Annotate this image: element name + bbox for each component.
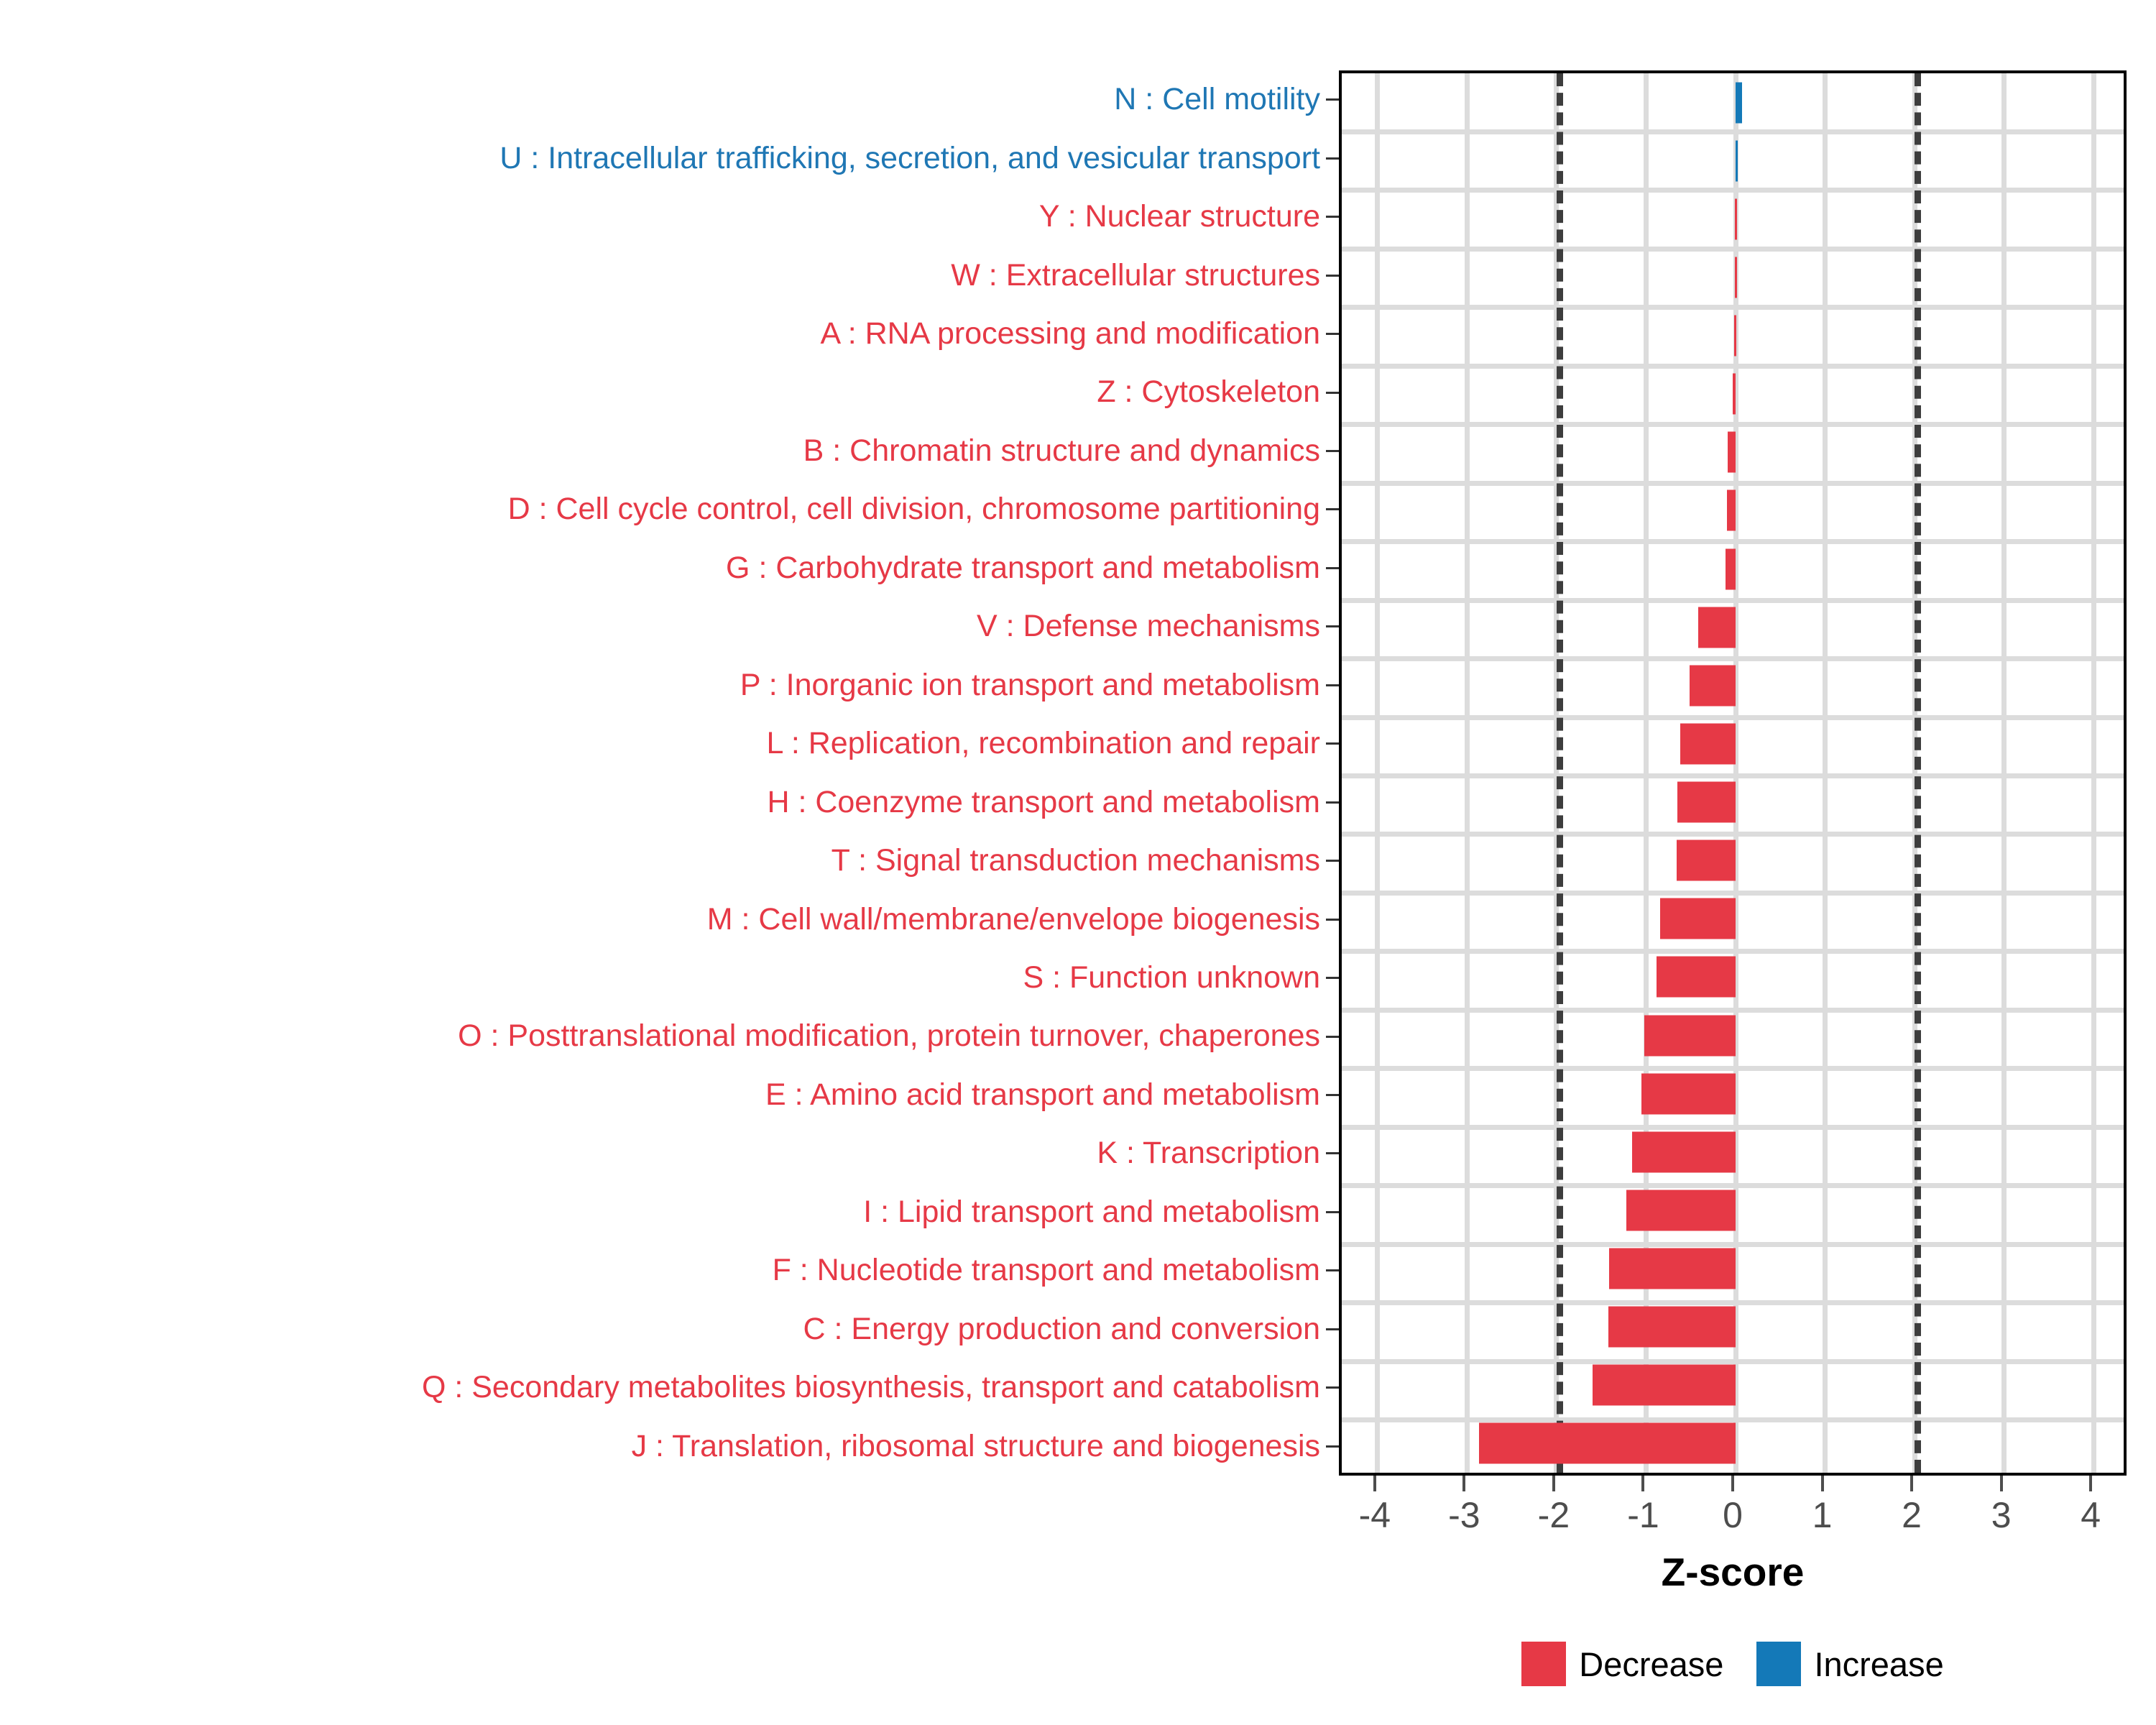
category-tick <box>1326 1036 1339 1038</box>
category-label: L : Replication, recombination and repai… <box>767 728 1320 759</box>
category-label: E : Amino acid transport and metabolism <box>765 1080 1320 1110</box>
category-tick <box>1326 157 1339 160</box>
category-label-row: G : Carbohydrate transport and metabolis… <box>0 539 1326 597</box>
bar-row <box>1342 598 2124 656</box>
category-tick <box>1326 508 1339 510</box>
bar <box>1677 782 1736 823</box>
bar <box>1735 198 1737 239</box>
x-axis-tick-label: -1 <box>1627 1494 1659 1536</box>
category-label: Y : Nuclear structure <box>1039 201 1320 232</box>
bar <box>1608 1307 1736 1348</box>
category-label: M : Cell wall/membrane/envelope biogenes… <box>707 904 1320 935</box>
x-axis-tick-label: -3 <box>1448 1494 1480 1536</box>
category-label: I : Lipid transport and metabolism <box>863 1197 1320 1228</box>
bar-row <box>1342 365 2124 423</box>
category-label: J : Translation, ribosomal structure and… <box>632 1431 1320 1462</box>
category-label-row: D : Cell cycle control, cell division, c… <box>0 480 1326 538</box>
bar <box>1690 665 1736 706</box>
x-axis-tick <box>1910 1476 1913 1491</box>
category-axis-labels: N : Cell motilityU : Intracellular traff… <box>0 70 1326 1476</box>
category-label-row: S : Function unknown <box>0 949 1326 1007</box>
category-tick <box>1326 919 1339 921</box>
category-tick <box>1326 801 1339 804</box>
category-tick <box>1326 98 1339 101</box>
category-label-row: Q : Secondary metabolites biosynthesis, … <box>0 1358 1326 1417</box>
category-label: C : Energy production and conversion <box>803 1314 1320 1345</box>
bar-row <box>1342 248 2124 306</box>
legend-label: Increase <box>1814 1644 1943 1684</box>
category-tick <box>1326 333 1339 335</box>
x-axis-tick <box>1821 1476 1824 1491</box>
category-label: S : Function unknown <box>1023 962 1320 993</box>
bar <box>1734 316 1736 356</box>
bar-row <box>1342 1006 2124 1064</box>
bar <box>1726 548 1736 589</box>
bar <box>1593 1365 1736 1406</box>
category-label: K : Transcription <box>1097 1138 1320 1169</box>
category-label: H : Coenzyme transport and metabolism <box>767 787 1320 818</box>
bar <box>1479 1423 1736 1464</box>
bar <box>1698 607 1736 648</box>
bar-row <box>1342 948 2124 1006</box>
bar-row <box>1342 1298 2124 1356</box>
category-label: B : Chromatin structure and dynamics <box>803 436 1320 466</box>
category-label-row: K : Transcription <box>0 1124 1326 1182</box>
category-label-row: O : Posttranslational modification, prot… <box>0 1007 1326 1065</box>
category-label: V : Defense mechanisms <box>977 611 1320 642</box>
bar-row <box>1342 1414 2124 1473</box>
chart-legend: DecreaseIncrease <box>1339 1632 2127 1696</box>
category-tick <box>1326 450 1339 452</box>
category-label: T : Signal transduction mechanisms <box>831 845 1320 876</box>
category-label: Q : Secondary metabolites biosynthesis, … <box>422 1372 1320 1403</box>
x-axis-tick <box>1462 1476 1465 1491</box>
category-tick <box>1326 1211 1339 1213</box>
x-axis-tick <box>1641 1476 1644 1491</box>
bar <box>1735 257 1737 298</box>
category-tick <box>1326 1328 1339 1330</box>
bar <box>1677 840 1736 881</box>
category-label-row: A : RNA processing and modification <box>0 305 1326 363</box>
category-label: G : Carbohydrate transport and metabolis… <box>726 553 1320 584</box>
category-label: P : Inorganic ion transport and metaboli… <box>740 670 1320 701</box>
category-label-row: I : Lipid transport and metabolism <box>0 1183 1326 1241</box>
bar <box>1733 374 1736 415</box>
legend-label: Decrease <box>1579 1644 1723 1684</box>
category-tick <box>1326 1094 1339 1096</box>
x-axis-title: Z-score <box>1339 1549 2127 1595</box>
category-label-row: C : Energy production and conversion <box>0 1300 1326 1358</box>
bar-row <box>1342 1240 2124 1298</box>
bar <box>1736 140 1738 181</box>
category-label-row: H : Coenzyme transport and metabolism <box>0 773 1326 831</box>
category-label: D : Cell cycle control, cell division, c… <box>508 494 1320 525</box>
category-tick <box>1326 275 1339 277</box>
bar-row <box>1342 482 2124 540</box>
x-axis-tick-label: -4 <box>1359 1494 1391 1536</box>
category-label-row: Z : Cytoskeleton <box>0 363 1326 421</box>
bar-row <box>1342 1356 2124 1414</box>
bar <box>1727 490 1736 531</box>
bar-row <box>1342 190 2124 248</box>
bar-row <box>1342 890 2124 948</box>
category-label-row: T : Signal transduction mechanisms <box>0 832 1326 890</box>
x-axis-tick-label: 1 <box>1812 1494 1833 1536</box>
category-label: F : Nucleotide transport and metabolism <box>773 1255 1320 1286</box>
category-label-row: J : Translation, ribosomal structure and… <box>0 1417 1326 1475</box>
category-label-row: N : Cell motility <box>0 70 1326 129</box>
category-label: N : Cell motility <box>1114 84 1320 115</box>
legend-swatch-icon <box>1521 1642 1566 1686</box>
category-label-row: P : Inorganic ion transport and metaboli… <box>0 656 1326 714</box>
category-label-row: U : Intracellular trafficking, secretion… <box>0 129 1326 187</box>
bar <box>1609 1248 1736 1289</box>
category-tick <box>1326 1445 1339 1448</box>
bar <box>1641 1073 1736 1114</box>
category-tick <box>1326 742 1339 745</box>
category-tick <box>1326 1269 1339 1271</box>
bar-series <box>1342 73 2124 1473</box>
chart-figure: N : Cell motilityU : Intracellular traff… <box>0 0 2156 1725</box>
bar <box>1728 432 1736 473</box>
category-tick <box>1326 392 1339 394</box>
category-tick <box>1326 216 1339 218</box>
x-axis-tick <box>1731 1476 1734 1491</box>
x-axis-tick <box>1373 1476 1376 1491</box>
bar <box>1626 1190 1736 1230</box>
x-axis-tick <box>2000 1476 2003 1491</box>
category-tick <box>1326 625 1339 627</box>
category-label-row: B : Chromatin structure and dynamics <box>0 422 1326 480</box>
x-axis-tick-label: 4 <box>2081 1494 2101 1536</box>
category-label: O : Posttranslational modification, prot… <box>458 1021 1320 1052</box>
category-label: U : Intracellular trafficking, secretion… <box>499 143 1320 174</box>
legend-swatch-icon <box>1756 1642 1801 1686</box>
bar-row <box>1342 73 2124 132</box>
bar-row <box>1342 307 2124 365</box>
bar-row <box>1342 714 2124 773</box>
category-tick <box>1326 684 1339 686</box>
bar-row <box>1342 540 2124 598</box>
plot-panel <box>1339 70 2127 1476</box>
bar <box>1657 957 1736 998</box>
x-axis-tick <box>1552 1476 1555 1491</box>
category-tick <box>1326 567 1339 569</box>
category-label-row: M : Cell wall/membrane/envelope biogenes… <box>0 890 1326 948</box>
legend-item[interactable]: Decrease <box>1521 1642 1723 1686</box>
category-label-row: E : Amino acid transport and metabolism <box>0 1066 1326 1124</box>
bar-row <box>1342 1181 2124 1239</box>
category-label: Z : Cytoskeleton <box>1097 377 1320 408</box>
bar-row <box>1342 832 2124 890</box>
x-axis-tick-label: -2 <box>1538 1494 1570 1536</box>
bar-row <box>1342 773 2124 832</box>
bar <box>1680 723 1736 764</box>
bar-row <box>1342 132 2124 190</box>
category-label: A : RNA processing and modification <box>820 318 1320 349</box>
category-label-row: V : Defense mechanisms <box>0 597 1326 655</box>
category-label-row: W : Extracellular structures <box>0 246 1326 304</box>
bar <box>1660 898 1736 939</box>
bar <box>1632 1131 1736 1172</box>
bar <box>1736 82 1742 123</box>
category-tick <box>1326 977 1339 979</box>
bar-row <box>1342 1123 2124 1181</box>
x-axis-tick-label: 3 <box>1991 1494 2012 1536</box>
category-label-row: Y : Nuclear structure <box>0 188 1326 246</box>
category-label: W : Extracellular structures <box>951 260 1320 291</box>
bar <box>1644 1015 1736 1056</box>
category-tick <box>1326 1386 1339 1389</box>
x-axis-tick-label: 0 <box>1723 1494 1743 1536</box>
category-label-row: L : Replication, recombination and repai… <box>0 714 1326 773</box>
bar-row <box>1342 656 2124 714</box>
x-axis-tick-label: 2 <box>1902 1494 1922 1536</box>
category-label-row: F : Nucleotide transport and metabolism <box>0 1241 1326 1299</box>
category-tick <box>1326 860 1339 862</box>
bar-row <box>1342 1064 2124 1123</box>
x-axis-tick <box>2089 1476 2092 1491</box>
category-tick <box>1326 1152 1339 1154</box>
bar-row <box>1342 423 2124 482</box>
legend-item[interactable]: Increase <box>1756 1642 1943 1686</box>
